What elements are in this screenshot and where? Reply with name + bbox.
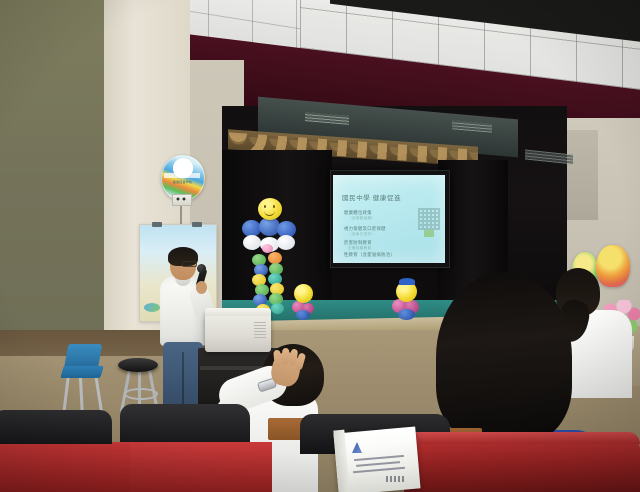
slide-title: 國民中學 健康促進: [342, 192, 438, 202]
projector-vent-icon: [254, 322, 266, 338]
poster-clip-icon: [192, 222, 202, 227]
presenter-hand: [196, 281, 207, 294]
slide-bullet-2-sub: （含每日潔牙）: [348, 232, 375, 237]
balloon-figure-right-foot: [398, 309, 415, 320]
stool-footring: [124, 388, 158, 400]
balloon-figure-center-foot: [296, 310, 310, 320]
microphone-head-icon: [197, 264, 206, 273]
sign-dots-icon: [175, 197, 187, 201]
slide-bullet-1-sub: （含推動組織）: [348, 216, 375, 221]
poster-clip-icon: [152, 222, 162, 227]
slide-chart-graphic: [424, 230, 434, 237]
poster-logo-icon: [144, 303, 160, 312]
photo-scene: 國民中學 健康促進 健康體位政策 （含推動組織） 視力保健及口腔保健 （含每日潔…: [0, 0, 640, 492]
audience-dark-hair-head: [436, 272, 572, 442]
balloon-figure-center-head: [294, 284, 313, 303]
sign-text: 健康促進學校: [166, 180, 199, 184]
wall-cutout-character-icon: [596, 245, 630, 287]
balloon-figure-right-cap-icon: [399, 278, 415, 285]
slide-bullet-4: 性教育（含愛滋病防治）: [344, 252, 395, 258]
smiley-balloon-icon: [258, 198, 282, 220]
sign-band: [164, 173, 200, 178]
slide-table-graphic: [418, 208, 440, 230]
auditorium-seat-cushion[interactable]: [112, 442, 272, 492]
bar-stool-seat[interactable]: [118, 358, 158, 372]
eyeglasses-icon: [182, 261, 197, 267]
folding-chair-seat[interactable]: [60, 366, 103, 378]
handout-signature: [386, 476, 406, 482]
slide-bullet-3-sub: 正確用藥教育: [348, 246, 371, 251]
auditorium-seat-rim: [404, 432, 640, 444]
projector-lens-icon: [212, 314, 225, 323]
auditorium-seat-cushion[interactable]: [0, 444, 130, 492]
